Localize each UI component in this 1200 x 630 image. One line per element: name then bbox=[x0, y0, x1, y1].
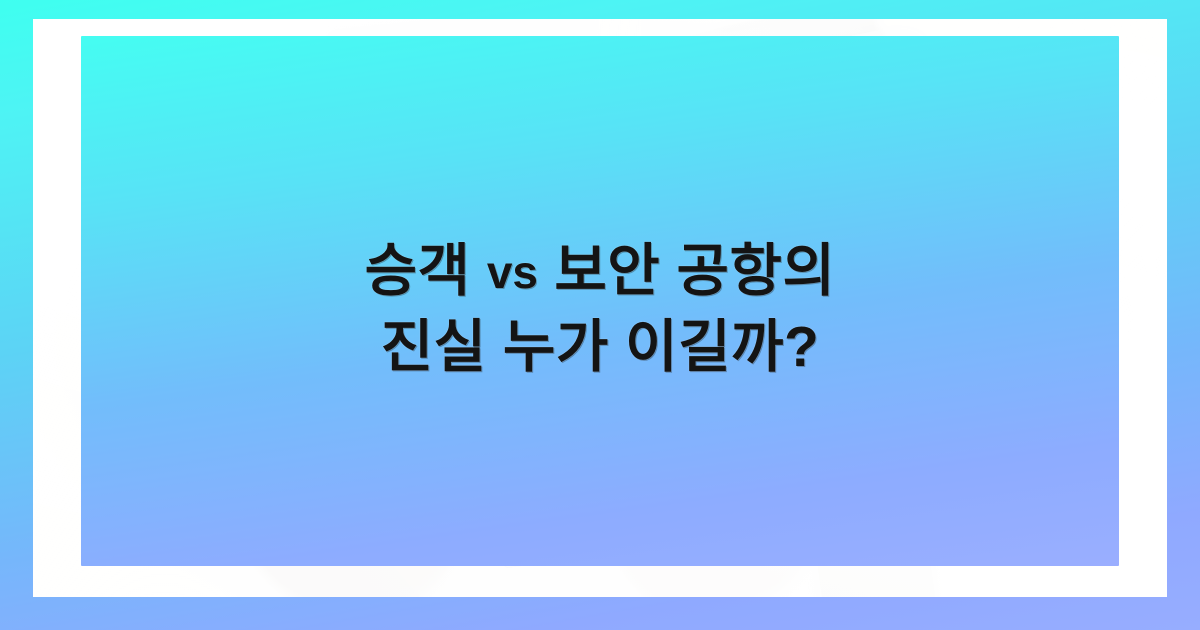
sparkline-chart bbox=[665, 258, 878, 319]
eyeglasses bbox=[886, 384, 1104, 550]
screen-ui-line bbox=[634, 219, 813, 245]
screen-ui-block bbox=[446, 141, 566, 167]
pie-chart-icon bbox=[535, 224, 618, 307]
screen-ui-block bbox=[746, 192, 866, 215]
screen-ui-line bbox=[636, 240, 775, 261]
og-image-canvas: 승객 vs 보안 공항의 진실 누가 이길까? bbox=[0, 0, 1200, 630]
background-photo bbox=[33, 19, 1167, 597]
screen-ui-block bbox=[449, 169, 519, 185]
content-card: 승객 vs 보안 공항의 진실 누가 이길까? bbox=[33, 19, 1167, 597]
screen-ui-block bbox=[645, 110, 805, 139]
eyeglass-temple-tip bbox=[1072, 477, 1088, 510]
screen-ui-block bbox=[647, 134, 757, 155]
eyeglass-lens-right bbox=[972, 425, 1076, 520]
eyeglass-lens-left bbox=[890, 398, 987, 488]
